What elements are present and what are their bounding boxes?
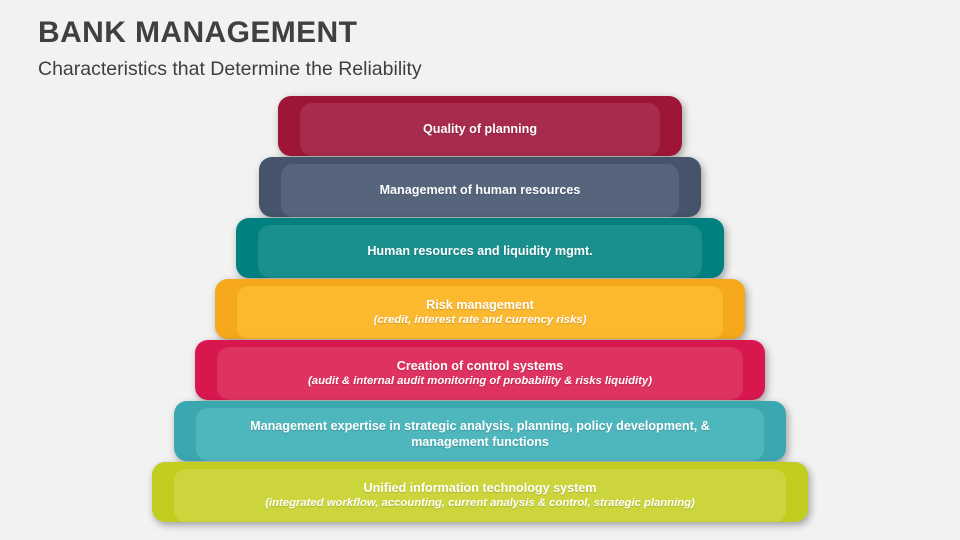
pyramid-tier: Unified information technology system(in…	[152, 462, 808, 522]
pyramid-tier: Management expertise in strategic analys…	[174, 401, 786, 461]
pyramid-tier-panel: Risk management(credit, interest rate an…	[237, 286, 723, 339]
pyramid-tier-label: Human resources and liquidity mgmt.	[353, 244, 606, 259]
pyramid-tier-label: Unified information technology system	[349, 481, 610, 496]
pyramid-tier: Creation of control systems(audit & inte…	[195, 340, 765, 400]
pyramid-tier-label: Quality of planning	[409, 122, 551, 137]
pyramid-tier: Management of human resources	[259, 157, 701, 217]
page-subtitle: Characteristics that Determine the Relia…	[38, 58, 918, 80]
pyramid-tier-label: Management expertise in strategic analys…	[196, 419, 764, 450]
pyramid-tier-sublabel: (credit, interest rate and currency risk…	[362, 313, 599, 328]
pyramid-tier-panel: Creation of control systems(audit & inte…	[217, 347, 743, 400]
pyramid-tier-label: Creation of control systems	[383, 359, 578, 374]
slide-header: BANK MANAGEMENT Characteristics that Det…	[38, 16, 918, 80]
pyramid-tier-panel: Management of human resources	[281, 164, 679, 217]
pyramid-tier-label: Management of human resources	[366, 183, 595, 198]
pyramid-tier-label: Risk management	[412, 298, 548, 313]
pyramid-tier-panel: Management expertise in strategic analys…	[196, 408, 764, 461]
page-title: BANK MANAGEMENT	[38, 16, 918, 49]
pyramid-tier: Risk management(credit, interest rate an…	[215, 279, 745, 339]
pyramid-tier: Human resources and liquidity mgmt.	[236, 218, 724, 278]
pyramid-tier-panel: Quality of planning	[300, 103, 660, 156]
pyramid-tier-sublabel: (integrated workflow, accounting, curren…	[253, 496, 707, 511]
slide-canvas: BANK MANAGEMENT Characteristics that Det…	[0, 0, 960, 540]
pyramid-tier: Quality of planning	[278, 96, 682, 156]
pyramid-tier-sublabel: (audit & internal audit monitoring of pr…	[296, 374, 664, 389]
pyramid-diagram: Quality of planningManagement of human r…	[0, 96, 960, 524]
pyramid-tier-panel: Unified information technology system(in…	[174, 469, 786, 522]
pyramid-tier-panel: Human resources and liquidity mgmt.	[258, 225, 702, 278]
